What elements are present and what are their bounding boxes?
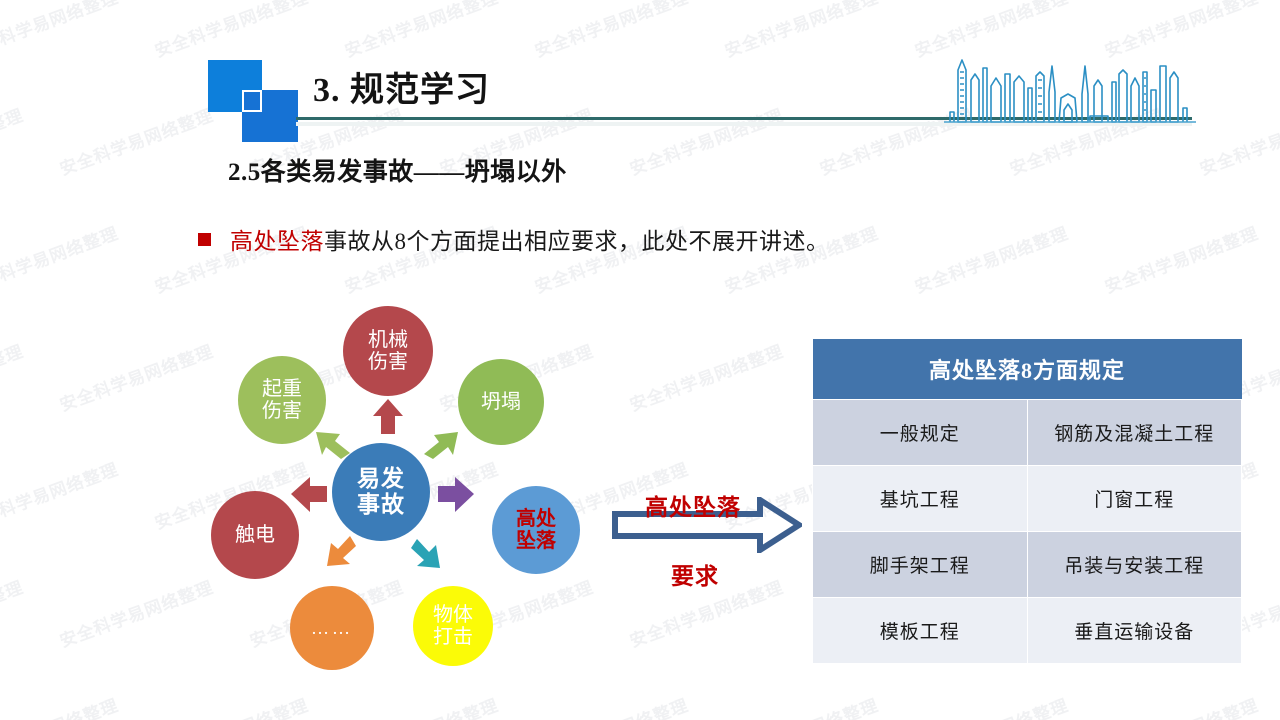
arrow-right-icon [438, 477, 474, 512]
node-label-line1: 起重 [262, 378, 302, 400]
table-row: 模板工程 垂直运输设备 [813, 598, 1242, 664]
flow-label-bottom: 要求 [671, 557, 719, 591]
node-fall-from-height[interactable]: 高处 坠落 [492, 486, 580, 574]
table-row: 基坑工程 门窗工程 [813, 466, 1242, 532]
arrow-lower-left-icon [327, 536, 356, 566]
node-label-line2: 事故 [357, 492, 405, 518]
node-mechanical-injury[interactable]: 机械 伤害 [343, 306, 433, 396]
page-title: 3. 规范学习 [313, 62, 490, 111]
bullet-text: 高处坠落事故从8个方面提出相应要求，此处不展开讲述。 [230, 222, 830, 256]
table-cell-right: 吊装与安装工程 [1027, 532, 1242, 598]
table-cell-left: 模板工程 [813, 598, 1028, 664]
two-blue-squares-logo-icon [208, 60, 304, 142]
arrow-upper-right-icon [424, 432, 458, 459]
node-lifting-injury[interactable]: 起重 伤害 [238, 356, 326, 444]
table-row: 脚手架工程 吊装与安装工程 [813, 532, 1242, 598]
arrow-left-icon [291, 477, 327, 512]
table-header-title: 高处坠落8方面规定 [813, 339, 1242, 400]
table-cell-left: 脚手架工程 [813, 532, 1028, 598]
node-label-line1: 坍塌 [481, 391, 521, 413]
node-label-line2: 坠落 [516, 530, 556, 552]
red-square-bullet-icon [198, 233, 211, 246]
table-cell-left: 一般规定 [813, 400, 1028, 466]
arrow-upper-left-icon [316, 432, 350, 459]
bullet-row: 高处坠落事故从8个方面提出相应要求，此处不展开讲述。 [198, 222, 830, 256]
node-label-line1: 高处 [516, 508, 556, 530]
table-cell-left: 基坑工程 [813, 466, 1028, 532]
accident-circle-diagram: 机械 伤害 起重 伤害 坍塌 触电 高处 坠落 …… 物体 打击 易发 事故 [195, 296, 605, 686]
bullet-rest: 事故从8个方面提出相应要求，此处不展开讲述。 [324, 229, 830, 254]
arrow-up-icon [373, 399, 403, 434]
table-cell-right: 门窗工程 [1027, 466, 1242, 532]
node-ellipsis[interactable]: …… [290, 586, 374, 670]
node-label-line1: …… [311, 618, 353, 638]
logo-overlap-outline [242, 90, 262, 112]
flow-label-top: 高处坠落 [645, 488, 741, 522]
node-label-line1: 物体 [433, 604, 473, 626]
section-subtitle: 2.5各类易发事故——坍塌以外 [228, 152, 567, 188]
table-cell-right: 钢筋及混凝土工程 [1027, 400, 1242, 466]
node-label-line1: 机械 [368, 329, 408, 351]
fall-from-height-provisions-table: 高处坠落8方面规定 一般规定 钢筋及混凝土工程 基坑工程 门窗工程 脚手架工程 … [812, 339, 1242, 664]
city-skyline-icon [944, 52, 1196, 130]
arrow-lower-right-icon [411, 539, 440, 568]
node-object-strike[interactable]: 物体 打击 [413, 586, 493, 666]
node-label-line2: 打击 [433, 626, 473, 648]
table-cell-right: 垂直运输设备 [1027, 598, 1242, 664]
bullet-highlight: 高处坠落 [230, 229, 324, 254]
node-label-line2: 伤害 [368, 351, 408, 373]
table-row: 一般规定 钢筋及混凝土工程 [813, 400, 1242, 466]
slide-canvas: 3. 规范学习 [0, 0, 1280, 720]
node-electric-shock[interactable]: 触电 [211, 491, 299, 579]
node-label-line1: 易发 [357, 466, 405, 492]
node-label-line2: 伤害 [262, 400, 302, 422]
table-header-row: 高处坠落8方面规定 [813, 339, 1242, 400]
node-collapse[interactable]: 坍塌 [458, 359, 544, 445]
node-center-frequent-accidents[interactable]: 易发 事故 [332, 443, 430, 541]
node-label-line1: 触电 [235, 524, 275, 546]
